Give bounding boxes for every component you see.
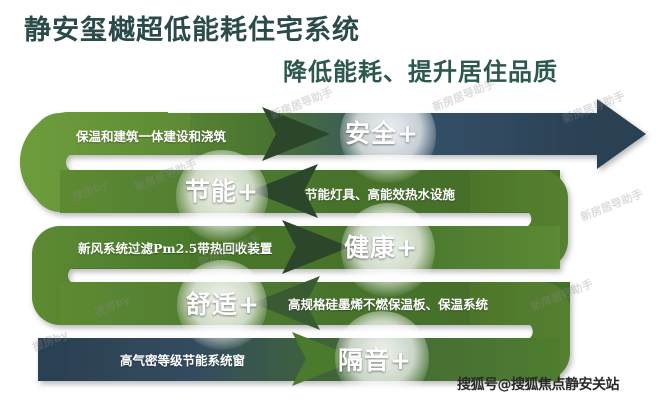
row-2-description: 节能灯具、高能效热水设施 — [305, 184, 455, 203]
slide-canvas: 静安玺樾超低能耗住宅系统 降低能耗、提升居住品质 — [0, 0, 660, 402]
row-2-benefit: 节能+ — [185, 172, 259, 208]
row-1-description: 保温和建筑一体建设和浇筑 — [76, 126, 226, 145]
row-1-benefit: 安全+ — [345, 114, 419, 150]
row-5-benefit: 隔音+ — [338, 341, 412, 377]
row-4-benefit: 舒适+ — [186, 285, 260, 321]
row-3-benefit: 健康+ — [344, 228, 418, 264]
row-4-description: 高规格硅墨烯不燃保温板、保温系统 — [288, 294, 488, 313]
row-3-description: 新风系统过滤Pm2.5带热回收装置 — [78, 238, 272, 257]
arrowhead-row-1 — [585, 99, 646, 169]
source-watermark: 搜狐号@搜狐焦点静安关站 — [457, 374, 619, 394]
row-5-description: 高气密等级节能系统窗 — [120, 350, 245, 369]
